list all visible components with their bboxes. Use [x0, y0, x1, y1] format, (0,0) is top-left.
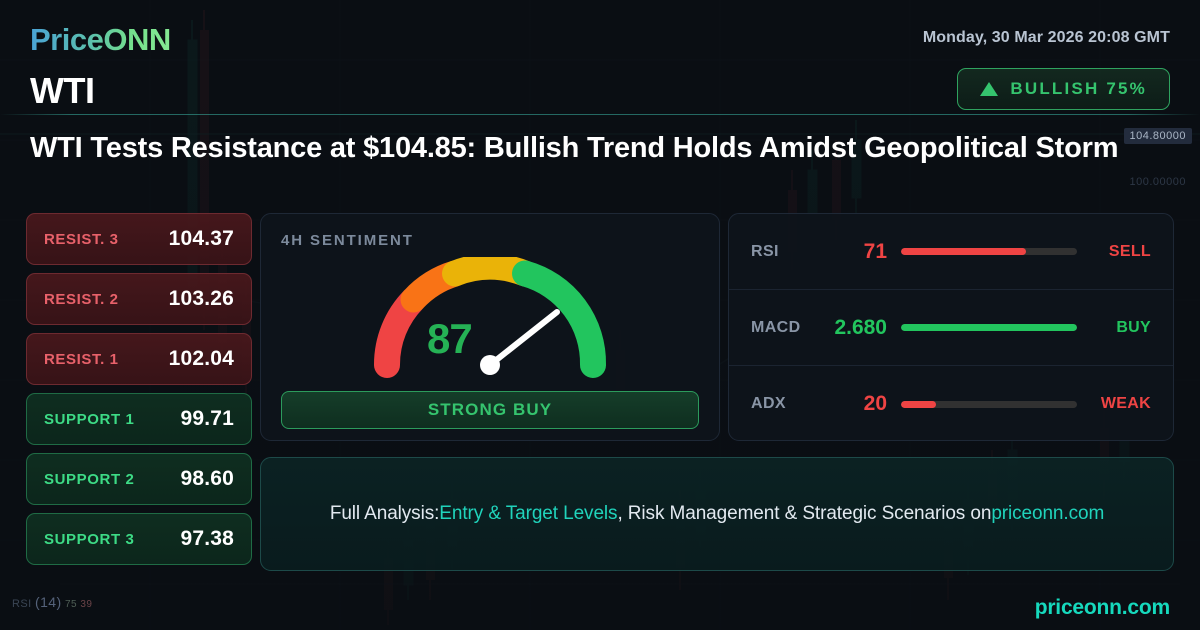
- headline: WTI Tests Resistance at $104.85: Bullish…: [30, 129, 1140, 167]
- header-divider: [0, 114, 1200, 115]
- indicator-bar-fill: [901, 248, 1026, 255]
- sentiment-gauge: 87: [281, 257, 699, 379]
- level-label: SUPPORT 3: [44, 531, 134, 548]
- level-label: SUPPORT 1: [44, 411, 134, 428]
- indicator-value: 2.680: [817, 316, 901, 340]
- level-label: RESIST. 2: [44, 291, 119, 308]
- cta-site-link[interactable]: priceonn.com: [991, 503, 1104, 525]
- indicator-bar: [901, 324, 1077, 331]
- indicator-bar-fill: [901, 401, 936, 408]
- page-title: WTI: [30, 70, 94, 112]
- level-row: SUPPORT 298.60: [26, 453, 252, 505]
- levels-rail: RESIST. 3104.37RESIST. 2103.26RESIST. 11…: [26, 213, 252, 573]
- indicators-panel: RSI71SELLMACD2.680BUYADX20WEAK: [728, 213, 1174, 441]
- level-row: SUPPORT 199.71: [26, 393, 252, 445]
- indicator-value: 71: [817, 240, 901, 264]
- indicator-bar: [901, 401, 1077, 408]
- level-value: 97.38: [180, 527, 234, 551]
- indicator-name: RSI: [751, 243, 817, 261]
- cta-accent-link[interactable]: Entry & Target Levels: [439, 503, 617, 525]
- level-row: RESIST. 1102.04: [26, 333, 252, 385]
- cta-middle: , Risk Management & Strategic Scenarios …: [617, 503, 991, 525]
- sentiment-score: 87: [427, 315, 472, 363]
- level-label: RESIST. 1: [44, 351, 119, 368]
- gauge-svg: [370, 257, 610, 379]
- indicator-row: MACD2.680BUY: [729, 290, 1173, 366]
- sentiment-title: 4H SENTIMENT: [281, 232, 699, 249]
- indicator-signal: SELL: [1077, 243, 1151, 261]
- level-label: RESIST. 3: [44, 231, 119, 248]
- level-label: SUPPORT 2: [44, 471, 134, 488]
- indicator-signal: BUY: [1077, 319, 1151, 337]
- level-value: 98.60: [180, 467, 234, 491]
- status-badge-label: BULLISH 75%: [1010, 79, 1147, 99]
- gauge-pivot: [480, 355, 500, 375]
- infographic-root: PriceONN WTI Monday, 30 Mar 2026 20:08 G…: [0, 0, 1200, 630]
- level-row: SUPPORT 397.38: [26, 513, 252, 565]
- triangle-up-icon: [980, 82, 998, 96]
- indicator-name: MACD: [751, 319, 817, 337]
- status-badge: BULLISH 75%: [957, 68, 1170, 110]
- level-value: 104.37: [169, 227, 234, 251]
- level-value: 102.04: [169, 347, 234, 371]
- indicator-value: 20: [817, 392, 901, 416]
- footer-brand[interactable]: priceonn.com: [1035, 596, 1170, 620]
- verdict-button[interactable]: STRONG BUY: [281, 391, 699, 429]
- indicator-row: RSI71SELL: [729, 214, 1173, 290]
- indicator-row: ADX20WEAK: [729, 366, 1173, 442]
- level-row: RESIST. 2103.26: [26, 273, 252, 325]
- gauge-needle: [490, 312, 557, 365]
- indicator-bar-fill: [901, 324, 1077, 331]
- sentiment-panel: 4H SENTIMENT 87 STRONG BUY: [260, 213, 720, 441]
- timestamp: Monday, 30 Mar 2026 20:08 GMT: [923, 29, 1170, 47]
- level-value: 99.71: [180, 407, 234, 431]
- level-value: 103.26: [169, 287, 234, 311]
- cta-banner[interactable]: Full Analysis: Entry & Target Levels, Ri…: [260, 457, 1174, 571]
- indicator-signal: WEAK: [1077, 395, 1151, 413]
- cta-prefix: Full Analysis:: [330, 503, 439, 525]
- brand-logo: PriceONN: [30, 22, 171, 58]
- indicator-name: ADX: [751, 395, 817, 413]
- indicator-bar: [901, 248, 1077, 255]
- level-row: RESIST. 3104.37: [26, 213, 252, 265]
